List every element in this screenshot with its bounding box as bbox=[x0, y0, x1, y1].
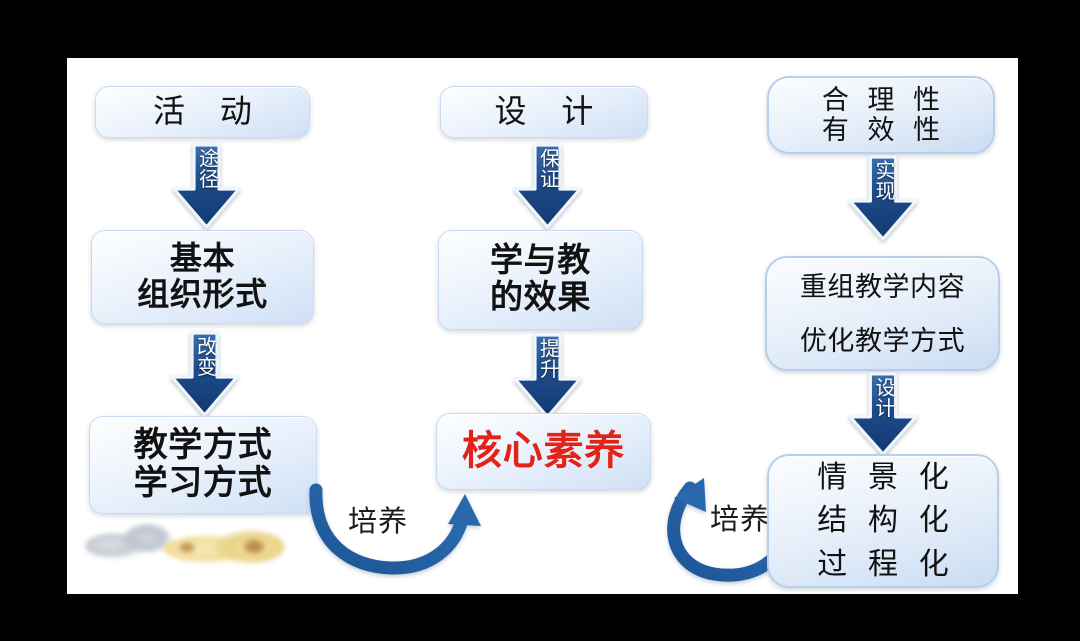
box-contextual-structural-procedural: 情 景 化 结 构 化 过 程 化 bbox=[767, 454, 999, 588]
diagram-canvas: 活 动 途径 基本 组织形式 bbox=[67, 58, 1018, 594]
arrow-design-label: 设计 bbox=[873, 377, 893, 418]
arrow-approach-label: 途径 bbox=[197, 148, 217, 189]
box-teaching-learning-methods: 教学方式 学习方式 bbox=[89, 416, 317, 514]
box-contextual-structural-procedural-line-2: 过 程 化 bbox=[811, 543, 956, 587]
box-design-line-0: 设 计 bbox=[481, 94, 607, 130]
box-core-competency-line-0: 核心素养 bbox=[462, 429, 625, 474]
arrow-guarantee-label: 保证 bbox=[538, 148, 558, 189]
arrow-realize: 实现 bbox=[845, 154, 921, 242]
arrow-approach: 途径 bbox=[169, 142, 244, 230]
arrow-improve-label: 提升 bbox=[538, 338, 558, 379]
box-rationality-effectiveness: 合 理 性 有 效 性 bbox=[767, 76, 995, 154]
box-core-competency: 核心素养 bbox=[436, 413, 651, 490]
arrow-realize-label: 实现 bbox=[873, 160, 893, 201]
curve-cultivate-left-label: 培养 bbox=[348, 498, 408, 540]
box-activity: 活 动 bbox=[95, 86, 310, 138]
box-design: 设 计 bbox=[440, 86, 648, 138]
box-basic-organization-line-0: 基本 bbox=[170, 241, 235, 277]
arrow-improve: 提升 bbox=[510, 332, 585, 420]
box-rationality-effectiveness-line-0: 合 理 性 bbox=[816, 85, 946, 115]
arrow-change: 改变 bbox=[167, 330, 242, 418]
box-basic-organization-line-1: 组织形式 bbox=[137, 277, 268, 313]
box-teaching-learning-methods-line-0: 教学方式 bbox=[134, 427, 273, 465]
box-contextual-structural-procedural-line-0: 情 景 化 bbox=[811, 456, 956, 500]
arrow-guarantee: 保证 bbox=[510, 142, 585, 230]
slide-root: 活 动 途径 基本 组织形式 bbox=[0, 0, 1080, 641]
box-learning-teaching-effect: 学与教 的效果 bbox=[438, 230, 643, 330]
box-contextual-structural-procedural-line-1: 结 构 化 bbox=[811, 499, 956, 543]
curve-cultivate-left: 培养 bbox=[302, 476, 492, 576]
box-reorganize-optimize-line-0: 重组教学内容 bbox=[800, 260, 965, 314]
box-learning-teaching-effect-line-0: 学与教 bbox=[490, 243, 591, 280]
box-reorganize-optimize-line-1: 优化教学方式 bbox=[800, 314, 965, 368]
arrow-design: 设计 bbox=[845, 371, 921, 457]
box-reorganize-optimize: 重组教学内容 优化教学方式 bbox=[765, 256, 1000, 371]
box-teaching-learning-methods-line-1: 学习方式 bbox=[134, 465, 273, 503]
box-activity-line-0: 活 动 bbox=[140, 94, 266, 130]
box-rationality-effectiveness-line-1: 有 效 性 bbox=[816, 115, 946, 145]
box-learning-teaching-effect-line-1: 的效果 bbox=[490, 280, 591, 317]
arrow-change-label: 改变 bbox=[195, 336, 215, 377]
box-basic-organization: 基本 组织形式 bbox=[91, 230, 314, 324]
decor-ginger-photo bbox=[75, 515, 290, 575]
curve-cultivate-right-label: 培养 bbox=[710, 496, 770, 538]
